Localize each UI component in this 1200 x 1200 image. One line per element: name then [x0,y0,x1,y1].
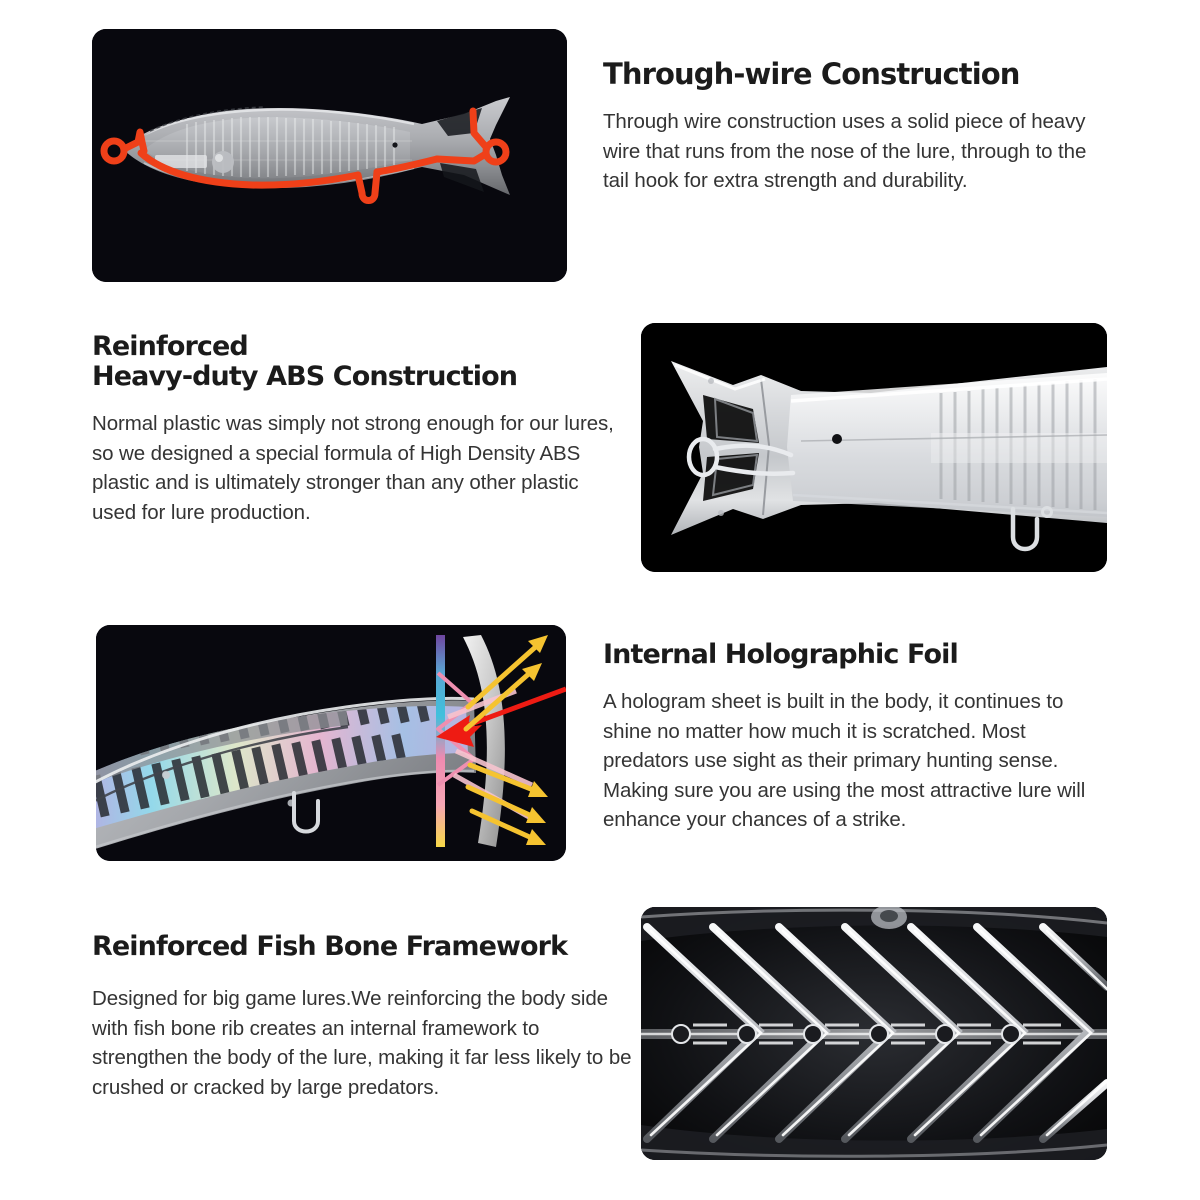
through-wire-lure-image [92,29,567,282]
holographic-text-block: Internal Holographic Foil A hologram she… [603,640,1113,835]
through-wire-heading: Through-wire Construction [603,58,1098,90]
fish-bone-body: Designed for big game lures.We reinforci… [92,984,632,1102]
fish-bone-heading: Reinforced Fish Bone Framework [92,932,632,962]
abs-body: Normal plastic was simply not strong eno… [92,409,617,527]
abs-construction-image [641,323,1107,572]
abs-heading-line-2: Heavy-duty ABS Construction [92,361,517,392]
through-wire-illustration [92,29,567,282]
spectrum-bar [436,635,445,847]
abs-text-block: Reinforced Heavy-duty ABS Construction N… [92,332,617,527]
through-wire-body: Through wire construction uses a solid p… [603,107,1098,196]
abs-heading-line-1: Reinforced [92,331,248,362]
fish-bone-illustration [641,907,1107,1160]
fish-bone-framework-image [641,907,1107,1160]
holographic-body: A hologram sheet is built in the body, i… [603,687,1113,835]
holographic-foil-image [96,625,566,861]
holographic-illustration [96,625,566,861]
abs-tail-illustration [641,323,1107,572]
infographic-page: Through-wire Construction Through wire c… [0,0,1200,1200]
through-wire-text-block: Through-wire Construction Through wire c… [603,58,1098,196]
abs-heading: Reinforced Heavy-duty ABS Construction [92,332,617,392]
fish-bone-text-block: Reinforced Fish Bone Framework Designed … [92,932,632,1102]
holographic-heading: Internal Holographic Foil [603,640,1113,670]
